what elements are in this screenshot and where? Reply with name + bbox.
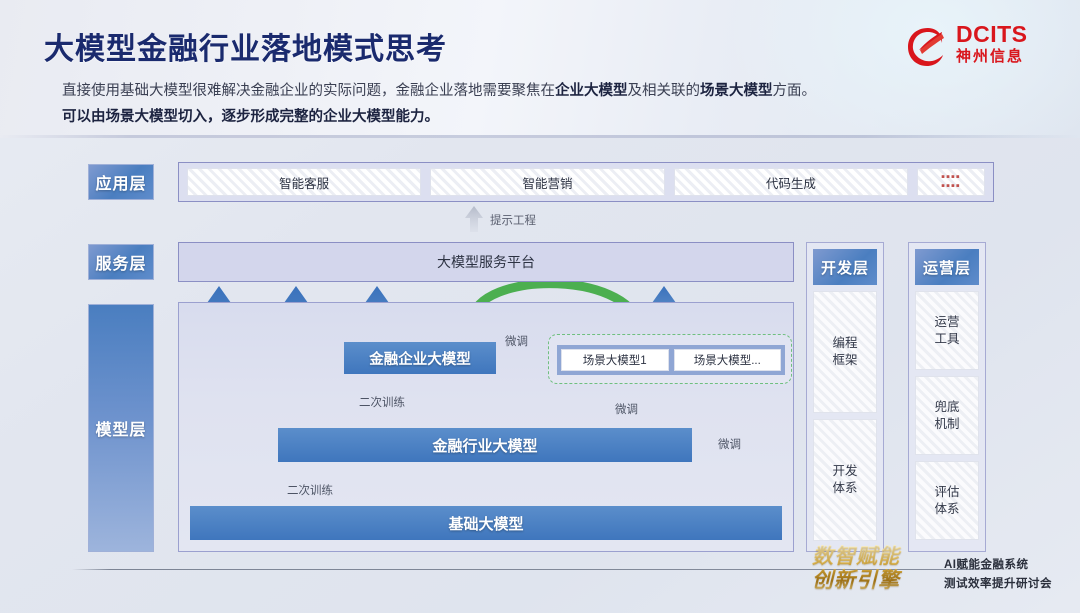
app-item-smart-service[interactable]: 智能客服 bbox=[187, 168, 421, 196]
app-item-more[interactable]: ▪▪▪▪▪▪▪▪ bbox=[917, 168, 985, 196]
dev-cell-1-text: 编程 框架 bbox=[832, 335, 857, 369]
ops-cell-evaluation-system[interactable]: 评估 体系 bbox=[915, 461, 979, 540]
dev-cell-development-system[interactable]: 开发 体系 bbox=[813, 419, 877, 541]
edge-label-retrain-1: 二次训练 bbox=[359, 394, 405, 410]
ops-cell-1-line1: 运营 bbox=[934, 315, 959, 329]
dev-column-title: 开发层 bbox=[813, 249, 877, 285]
ops-cell-1-line2: 工具 bbox=[934, 332, 959, 346]
ops-cell-2-text: 兜底 机制 bbox=[934, 399, 959, 433]
dev-cell-1-line1: 编程 bbox=[832, 336, 857, 350]
layer-label-application: 应用层 bbox=[88, 164, 154, 200]
model-box-base[interactable]: 基础大模型 bbox=[190, 506, 782, 540]
service-platform-box: 大模型服务平台 bbox=[178, 242, 794, 282]
subtitle-text-c: 及相关联的 bbox=[628, 83, 701, 99]
subtitle-line-2: 可以由场景大模型切入，逐步形成完整的企业大模型能力。 bbox=[62, 104, 1002, 130]
ops-cell-3-line2: 体系 bbox=[934, 502, 959, 516]
layer-label-model: 模型层 bbox=[88, 304, 154, 552]
ellipsis-icon: ▪▪▪▪▪▪▪▪ bbox=[941, 173, 961, 191]
logo-wordmark: DCITS 神州信息 bbox=[956, 22, 1028, 67]
ops-cell-fallback-mechanism[interactable]: 兜底 机制 bbox=[915, 376, 979, 455]
ops-cell-2-line1: 兜底 bbox=[934, 400, 959, 414]
subtitle-text-e: 方面。 bbox=[773, 83, 817, 99]
ops-cell-3-text: 评估 体系 bbox=[934, 484, 959, 518]
event-brand-logo: 数智赋能 创新引擎 bbox=[812, 545, 932, 593]
subtitle-text-a: 直接使用基础大模型很难解决金融企业的实际问题，金融企业落地需要聚焦在 bbox=[62, 83, 555, 99]
scene-model-more[interactable]: 场景大模型... bbox=[674, 349, 782, 371]
development-layer-column: 开发层 编程 框架 开发 体系 bbox=[806, 242, 884, 552]
operations-layer-column: 运营层 运营 工具 兜底 机制 评估 体系 bbox=[908, 242, 986, 552]
edge-label-finetune-1: 微调 bbox=[505, 333, 528, 349]
brand-line-2: 创新引擎 bbox=[812, 569, 932, 593]
app-item-smart-marketing[interactable]: 智能营销 bbox=[430, 168, 664, 196]
subtitle-emphasis-1: 企业大模型 bbox=[555, 83, 628, 99]
event-name: AI赋能金融系统 测试效率提升研讨会 bbox=[944, 556, 1052, 594]
model-box-enterprise[interactable]: 金融企业大模型 bbox=[344, 342, 496, 374]
ops-cell-3-line1: 评估 bbox=[934, 485, 959, 499]
ops-cell-1-text: 运营 工具 bbox=[934, 314, 959, 348]
dev-cell-programming-framework[interactable]: 编程 框架 bbox=[813, 291, 877, 413]
edge-label-prompt-engineering: 提示工程 bbox=[490, 212, 536, 228]
dev-cell-1-line2: 框架 bbox=[832, 353, 857, 367]
logo-text-cn: 神州信息 bbox=[956, 47, 1028, 67]
scene-model-group: 场景大模型1 场景大模型... bbox=[548, 334, 792, 384]
app-item-code-generation[interactable]: 代码生成 bbox=[674, 168, 908, 196]
application-layer-band: 智能客服 智能营销 代码生成 ▪▪▪▪▪▪▪▪ bbox=[178, 162, 994, 202]
page-header: 大模型金融行业落地模式思考 直接使用基础大模型很难解决金融企业的实际问题，金融企… bbox=[0, 0, 1080, 138]
dev-cell-2-text: 开发 体系 bbox=[832, 463, 857, 497]
dev-cell-2-line2: 体系 bbox=[832, 481, 857, 495]
subtitle-line-1: 直接使用基础大模型很难解决金融企业的实际问题，金融企业落地需要聚焦在企业大模型及… bbox=[62, 78, 1002, 104]
page-title: 大模型金融行业落地模式思考 bbox=[44, 24, 447, 68]
ops-cell-2-line2: 机制 bbox=[934, 417, 959, 431]
architecture-diagram: 应用层 服务层 模型层 智能客服 智能营销 代码生成 ▪▪▪▪▪▪▪▪ 提示工程… bbox=[0, 138, 1080, 613]
event-line-1: AI赋能金融系统 bbox=[944, 556, 1052, 575]
layer-label-service: 服务层 bbox=[88, 244, 154, 280]
dcits-swirl-icon bbox=[906, 26, 950, 68]
edge-label-retrain-2: 二次训练 bbox=[287, 482, 333, 498]
edge-label-finetune-3: 微调 bbox=[718, 436, 741, 452]
page-subtitle: 直接使用基础大模型很难解决金融企业的实际问题，金融企业落地需要聚焦在企业大模型及… bbox=[62, 78, 1002, 130]
dev-cell-2-line1: 开发 bbox=[832, 464, 857, 478]
model-box-industry[interactable]: 金融行业大模型 bbox=[278, 428, 692, 462]
arrow-prompt-engineering bbox=[465, 206, 483, 232]
scene-model-inner: 场景大模型1 场景大模型... bbox=[557, 345, 785, 375]
edge-label-finetune-2: 微调 bbox=[615, 401, 638, 417]
event-line-2: 测试效率提升研讨会 bbox=[944, 575, 1052, 594]
logo-text-en: DCITS bbox=[956, 22, 1028, 47]
brand-line-1: 数智赋能 bbox=[812, 545, 932, 569]
application-items: 智能客服 智能营销 代码生成 ▪▪▪▪▪▪▪▪ bbox=[179, 163, 993, 201]
ops-cell-operation-tools[interactable]: 运营 工具 bbox=[915, 291, 979, 370]
dcits-logo: DCITS 神州信息 bbox=[906, 22, 1058, 74]
scene-model-1[interactable]: 场景大模型1 bbox=[561, 349, 669, 371]
subtitle-emphasis-2: 场景大模型 bbox=[700, 83, 773, 99]
ops-column-title: 运营层 bbox=[915, 249, 979, 285]
